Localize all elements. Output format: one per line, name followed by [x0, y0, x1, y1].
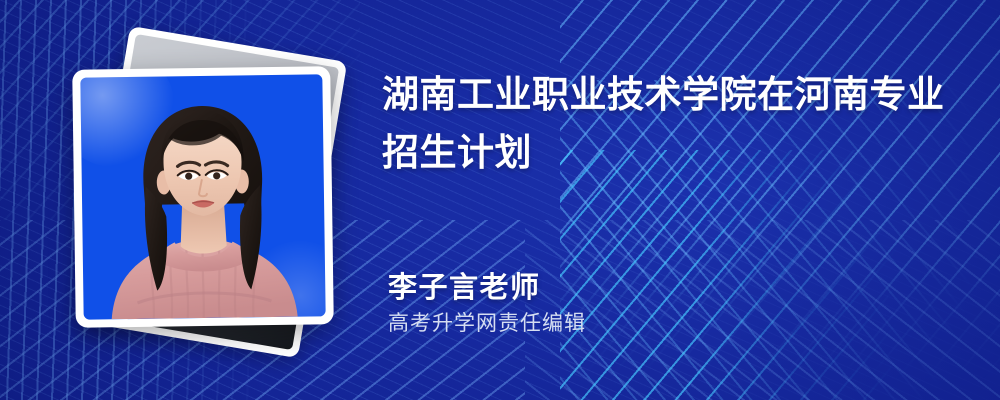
- author-portrait: [80, 74, 325, 319]
- author-role: 高考升学网责任编辑: [388, 308, 948, 340]
- headline-block: 湖南工业职业技术学院在河南专业招生计划: [382, 66, 962, 182]
- author-name: 李子言老师: [388, 268, 948, 308]
- byline-block: 李子言老师 高考升学网责任编辑: [388, 268, 948, 340]
- photo-stack: [48, 40, 348, 360]
- page-title: 湖南工业职业技术学院在河南专业招生计划: [382, 66, 962, 182]
- portrait-illustration: [80, 74, 325, 319]
- photo-front-card: [72, 66, 334, 328]
- cover-banner: 湖南工业职业技术学院在河南专业招生计划 李子言老师 高考升学网责任编辑: [0, 0, 1000, 400]
